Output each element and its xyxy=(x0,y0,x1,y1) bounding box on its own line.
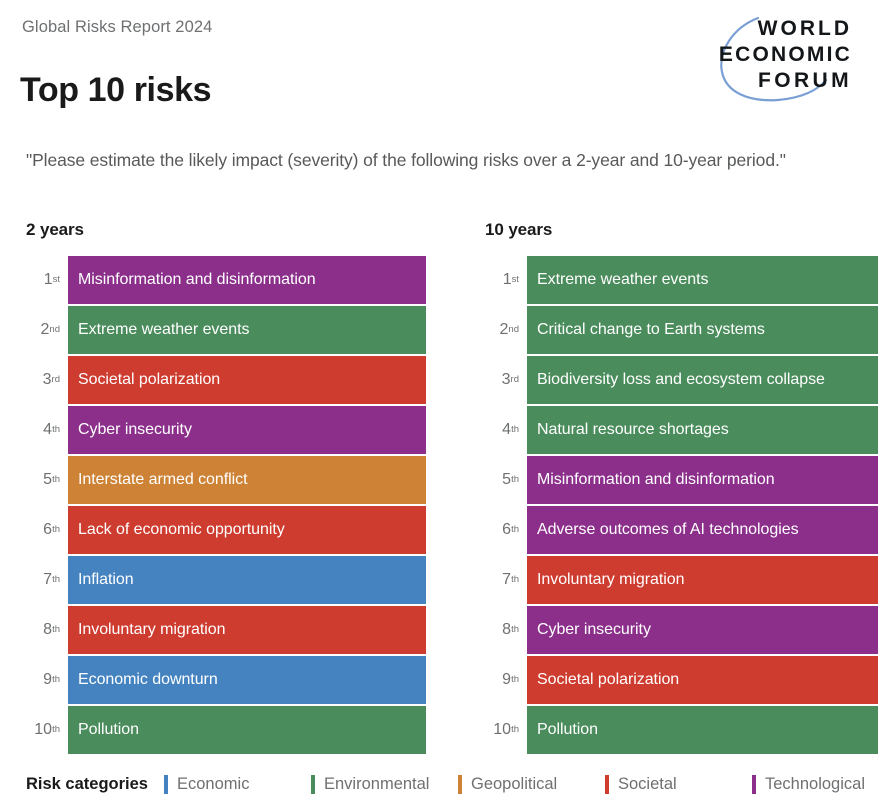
risk-row: 10thPollution xyxy=(485,706,878,754)
risk-rank: 2nd xyxy=(26,306,68,354)
risk-bar: Pollution xyxy=(527,706,878,754)
risk-rank: 9th xyxy=(485,656,527,704)
risk-bar: Misinformation and disinformation xyxy=(68,256,426,304)
risk-bar: Misinformation and disinformation xyxy=(527,456,878,504)
risk-rank: 1st xyxy=(485,256,527,304)
risk-row: 6thLack of economic opportunity xyxy=(26,506,426,554)
risk-row: 7thInflation xyxy=(26,556,426,604)
risk-rank: 3rd xyxy=(26,356,68,404)
risk-row: 7thInvoluntary migration xyxy=(485,556,878,604)
risk-rank: 9th xyxy=(26,656,68,704)
risk-bar: Societal polarization xyxy=(527,656,878,704)
risk-bar: Natural resource shortages xyxy=(527,406,878,454)
legend-label: Environmental xyxy=(324,775,429,794)
risk-rank: 2nd xyxy=(485,306,527,354)
risk-row: 3rdSocietal polarization xyxy=(26,356,426,404)
risk-rank: 10th xyxy=(485,706,527,754)
column-heading-2-years: 2 years xyxy=(26,220,426,240)
risk-row: 4thCyber insecurity xyxy=(26,406,426,454)
logo-line-forum: FORUM xyxy=(758,70,852,91)
logo-line-economic: ECONOMIC xyxy=(719,44,852,65)
column-10-years: 10 years 1stExtreme weather events2ndCri… xyxy=(485,220,878,756)
page-header: Global Risks Report 2024 Top 10 risks WO… xyxy=(0,0,878,128)
risk-row: 8thInvoluntary migration xyxy=(26,606,426,654)
risk-rank: 8th xyxy=(26,606,68,654)
logo-line-world: WORLD xyxy=(758,18,852,39)
risk-rank: 5th xyxy=(26,456,68,504)
risk-bar: Critical change to Earth systems xyxy=(527,306,878,354)
risk-row: 4thNatural resource shortages xyxy=(485,406,878,454)
risk-rank: 5th xyxy=(485,456,527,504)
risk-row: 2ndCritical change to Earth systems xyxy=(485,306,878,354)
risk-bar: Lack of economic opportunity xyxy=(68,506,426,554)
risk-row: 8thCyber insecurity xyxy=(485,606,878,654)
legend-swatch-icon xyxy=(752,775,756,794)
risk-row: 10thPollution xyxy=(26,706,426,754)
legend-label: Societal xyxy=(618,775,677,794)
risk-rank: 3rd xyxy=(485,356,527,404)
risk-rank: 7th xyxy=(485,556,527,604)
world-economic-forum-logo: WORLD ECONOMIC FORUM xyxy=(662,14,852,106)
risk-bar: Extreme weather events xyxy=(527,256,878,304)
legend-label: Technological xyxy=(765,775,865,794)
legend-swatch-icon xyxy=(605,775,609,794)
risk-row: 5thInterstate armed conflict xyxy=(26,456,426,504)
column-heading-10-years: 10 years xyxy=(485,220,878,240)
risk-bar: Interstate armed conflict xyxy=(68,456,426,504)
risk-list-2-years: 1stMisinformation and disinformation2ndE… xyxy=(26,256,426,754)
risk-rank: 4th xyxy=(26,406,68,454)
legend-item: Geopolitical xyxy=(458,775,605,794)
legend-swatch-icon xyxy=(164,775,168,794)
risk-bar: Extreme weather events xyxy=(68,306,426,354)
risk-rank: 10th xyxy=(26,706,68,754)
legend-label: Economic xyxy=(177,775,249,794)
column-2-years: 2 years 1stMisinformation and disinforma… xyxy=(26,220,426,756)
risk-bar: Adverse outcomes of AI technologies xyxy=(527,506,878,554)
risk-rank: 4th xyxy=(485,406,527,454)
legend-swatch-icon xyxy=(311,775,315,794)
risk-rank: 1st xyxy=(26,256,68,304)
risk-bar: Societal polarization xyxy=(68,356,426,404)
survey-question: "Please estimate the likely impact (seve… xyxy=(26,150,866,171)
risk-rank: 8th xyxy=(485,606,527,654)
risk-row: 6thAdverse outcomes of AI technologies xyxy=(485,506,878,554)
risk-bar: Cyber insecurity xyxy=(68,406,426,454)
legend-item: Environmental xyxy=(311,775,458,794)
risk-row: 1stMisinformation and disinformation xyxy=(26,256,426,304)
risk-row: 1stExtreme weather events xyxy=(485,256,878,304)
legend-swatch-icon xyxy=(458,775,462,794)
risk-rank: 6th xyxy=(26,506,68,554)
legend-label: Geopolitical xyxy=(471,775,557,794)
legend-item: Societal xyxy=(605,775,752,794)
risk-row: 5thMisinformation and disinformation xyxy=(485,456,878,504)
report-kicker: Global Risks Report 2024 xyxy=(22,18,212,37)
risk-row: 9thEconomic downturn xyxy=(26,656,426,704)
risk-bar: Involuntary migration xyxy=(527,556,878,604)
risk-rank: 6th xyxy=(485,506,527,554)
risk-bar: Inflation xyxy=(68,556,426,604)
legend-item: Technological xyxy=(752,775,878,794)
risk-bar: Biodiversity loss and ecosystem collapse xyxy=(527,356,878,404)
risk-row: 9thSocietal polarization xyxy=(485,656,878,704)
legend: Risk categories EconomicEnvironmentalGeo… xyxy=(26,775,878,794)
risk-row: 3rdBiodiversity loss and ecosystem colla… xyxy=(485,356,878,404)
risk-bar: Pollution xyxy=(68,706,426,754)
legend-item: Economic xyxy=(164,775,311,794)
risk-bar: Involuntary migration xyxy=(68,606,426,654)
risk-bar: Cyber insecurity xyxy=(527,606,878,654)
risk-row: 2ndExtreme weather events xyxy=(26,306,426,354)
risk-list-10-years: 1stExtreme weather events2ndCritical cha… xyxy=(485,256,878,754)
legend-items: EconomicEnvironmentalGeopoliticalSocieta… xyxy=(164,775,878,794)
legend-title: Risk categories xyxy=(26,775,164,794)
risk-bar: Economic downturn xyxy=(68,656,426,704)
risk-rank: 7th xyxy=(26,556,68,604)
page-title: Top 10 risks xyxy=(20,71,211,110)
